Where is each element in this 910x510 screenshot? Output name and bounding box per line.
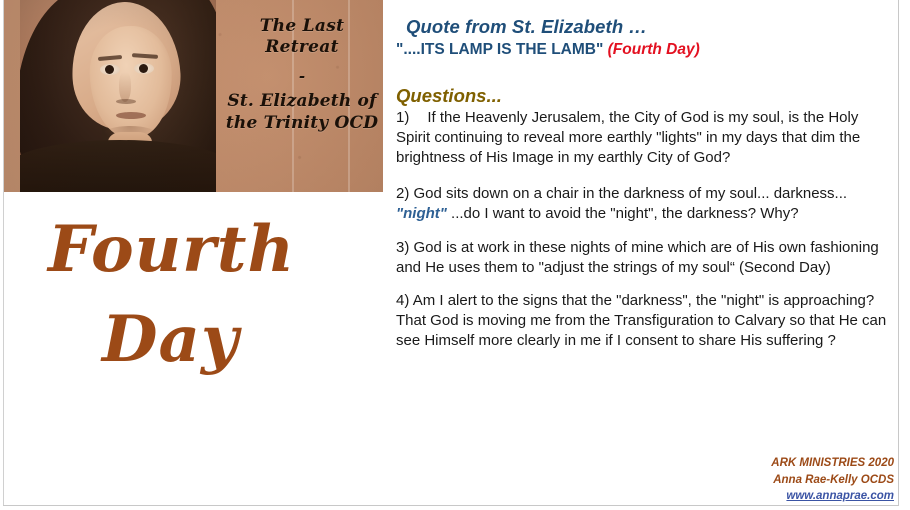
- questions-heading: Questions...: [396, 85, 896, 107]
- quote-text: "....ITS LAMP IS THE LAMB": [396, 41, 603, 58]
- credits-organization: ARK MINISTRIES 2020: [771, 455, 894, 472]
- question-4-text: Am I alert to the signs that the "darkne…: [396, 292, 886, 349]
- title-photo-block: The Last Retreat - St. Elizabeth of the …: [4, 0, 383, 192]
- question-item-2: 2) God sits down on a chair in the darkn…: [396, 184, 896, 224]
- page-border-right: [898, 0, 899, 506]
- question-3-text: God is at work in these nights of mine w…: [396, 239, 879, 276]
- question-1-text: If the Heavenly Jerusalem, the City of G…: [396, 109, 860, 166]
- credits-author: Anna Rae-Kelly OCDS: [771, 472, 894, 489]
- slide-canvas: The Last Retreat - St. Elizabeth of the …: [0, 0, 910, 510]
- credits-website-link[interactable]: www.annaprae.com: [771, 488, 894, 505]
- page-border-bottom: [3, 505, 899, 506]
- question-3-number: 3): [396, 239, 409, 256]
- saint-portrait-photo: [20, 0, 216, 192]
- question-1-number: 1): [396, 109, 409, 126]
- question-2-emphasis: "night": [396, 205, 447, 222]
- quote-day-label: (Fourth Day): [608, 41, 700, 58]
- fourth-day-line2: Day: [30, 308, 330, 372]
- fourth-day-line1: Fourth: [30, 218, 330, 282]
- script-title-line2: St. Elizabeth of the Trinity OCD: [222, 91, 382, 134]
- website-url[interactable]: www.annaprae.com: [786, 490, 894, 502]
- quote-line: "....ITS LAMP IS THE LAMB" (Fourth Day): [396, 40, 896, 61]
- question-item-4: 4) Am I alert to the signs that the "dar…: [396, 291, 896, 351]
- question-item-1: 1)If the Heavenly Jerusalem, the City of…: [396, 108, 896, 168]
- script-title-line1: The Last Retreat: [222, 16, 382, 59]
- question-2-number: 2): [396, 185, 409, 202]
- question-item-3: 3) God is at work in these nights of min…: [396, 238, 896, 278]
- photo-vignette: [20, 0, 216, 192]
- question-2-text-before: God sits down on a chair in the darkness…: [414, 185, 848, 202]
- quote-heading: Quote from St. Elizabeth …: [406, 16, 896, 38]
- script-title-dash: -: [222, 67, 382, 86]
- question-2-text-after: ...do I want to avoid the "night", the d…: [447, 205, 799, 222]
- fourth-day-heading: Fourth Day: [30, 218, 330, 372]
- content-column: Quote from St. Elizabeth … "....ITS LAMP…: [396, 16, 896, 365]
- credits-block: ARK MINISTRIES 2020 Anna Rae-Kelly OCDS …: [771, 455, 894, 505]
- retreat-script-title: The Last Retreat - St. Elizabeth of the …: [222, 16, 382, 134]
- question-4-number: 4): [396, 292, 409, 309]
